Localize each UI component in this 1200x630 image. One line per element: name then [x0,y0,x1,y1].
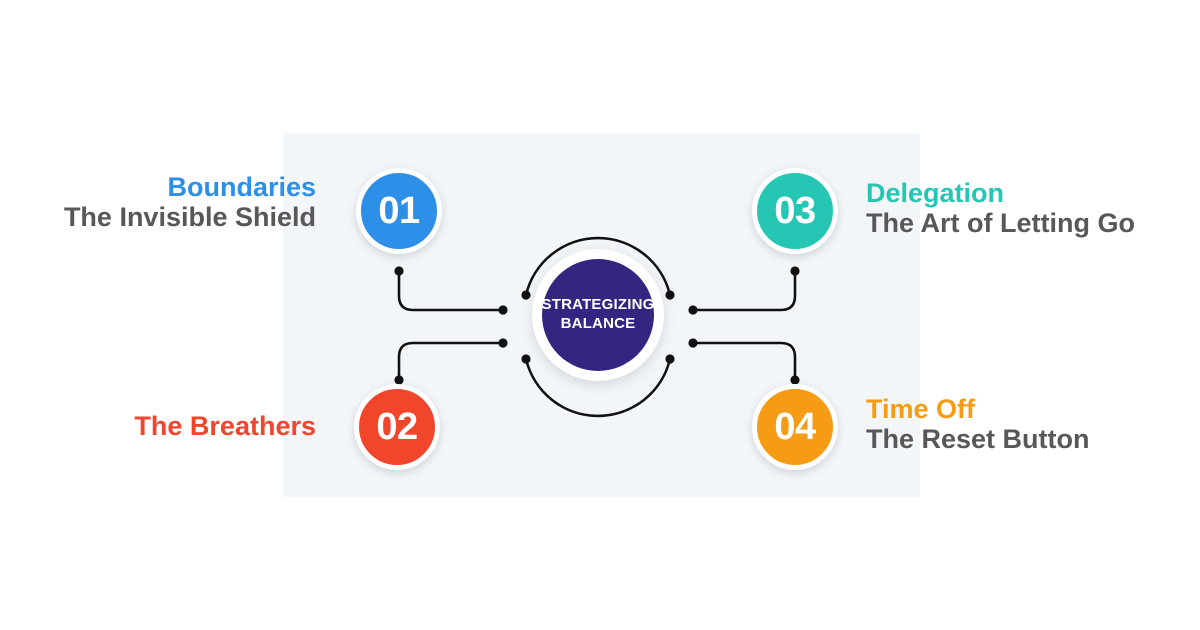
label-subtitle-01: The Invisible Shield [64,202,316,232]
center-hub-line-1: STRATEGIZING [542,296,655,315]
label-title-04: Time Off [866,394,1090,424]
center-hub-line-2: BALANCE [561,315,636,334]
node-circle-01[interactable]: 01 [356,168,442,254]
node-number-02: 02 [376,408,417,446]
label-subtitle-03: The Art of Letting Go [866,208,1135,238]
center-hub: STRATEGIZING BALANCE [521,238,675,392]
center-hub-circle: STRATEGIZING BALANCE [542,259,654,371]
node-number-04: 04 [774,408,815,446]
label-block-02: The Breathers [134,411,316,441]
node-circle-02[interactable]: 02 [354,384,440,470]
label-block-03: Delegation The Art of Letting Go [866,178,1135,238]
label-title-01: Boundaries [64,172,316,202]
label-block-04: Time Off The Reset Button [866,394,1090,454]
label-subtitle-04: The Reset Button [866,424,1090,454]
node-number-01: 01 [378,192,419,230]
label-title-02: The Breathers [134,411,316,441]
label-title-03: Delegation [866,178,1135,208]
infographic-canvas: STRATEGIZING BALANCE 01 02 03 04 Boundar… [0,0,1200,630]
node-circle-03[interactable]: 03 [752,168,838,254]
node-number-03: 03 [774,192,815,230]
node-circle-04[interactable]: 04 [752,384,838,470]
label-block-01: Boundaries The Invisible Shield [64,172,316,232]
